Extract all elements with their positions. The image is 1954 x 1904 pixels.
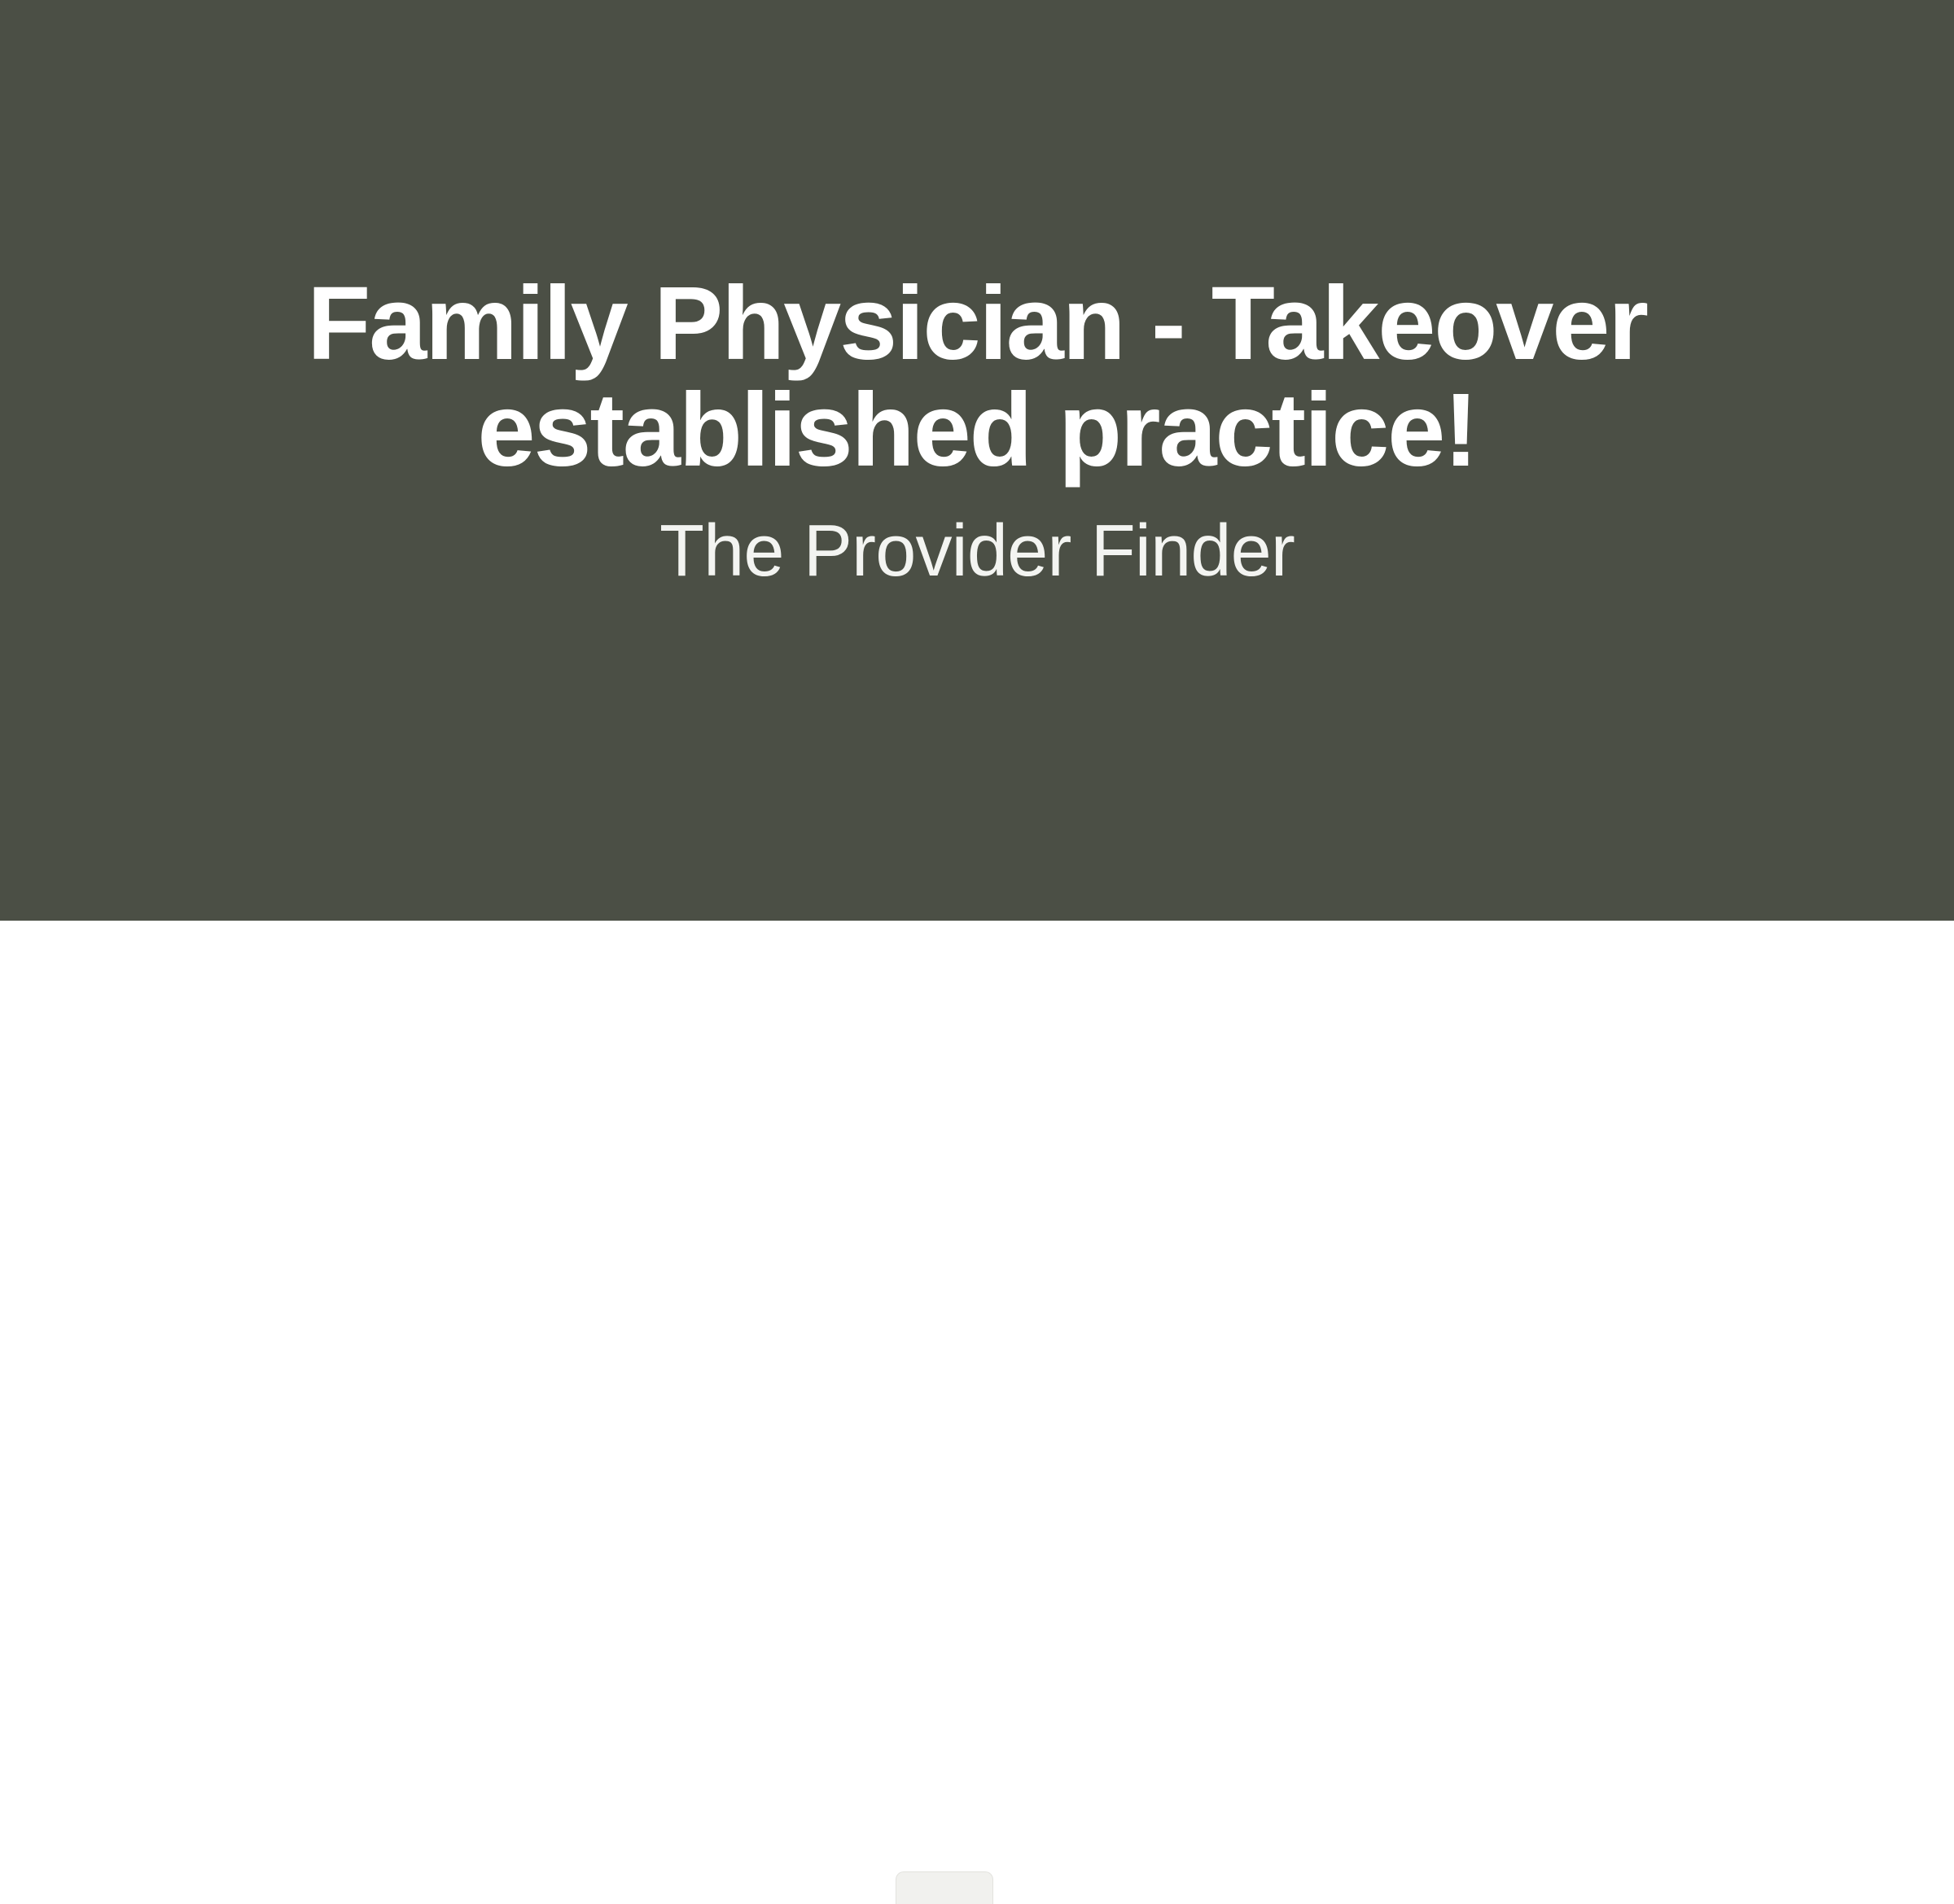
partially-visible-card[interactable] [896,1871,993,1904]
hero-content: Family Physician - Takeover established … [122,0,1832,590]
page-root: Family Physician - Takeover established … [0,0,1954,955]
page-title: Family Physician - Takeover established … [163,271,1791,484]
below-fold-area [0,921,1954,955]
hero-banner: Family Physician - Takeover established … [0,0,1954,921]
page-subtitle: The Provider Finder [122,484,1832,590]
